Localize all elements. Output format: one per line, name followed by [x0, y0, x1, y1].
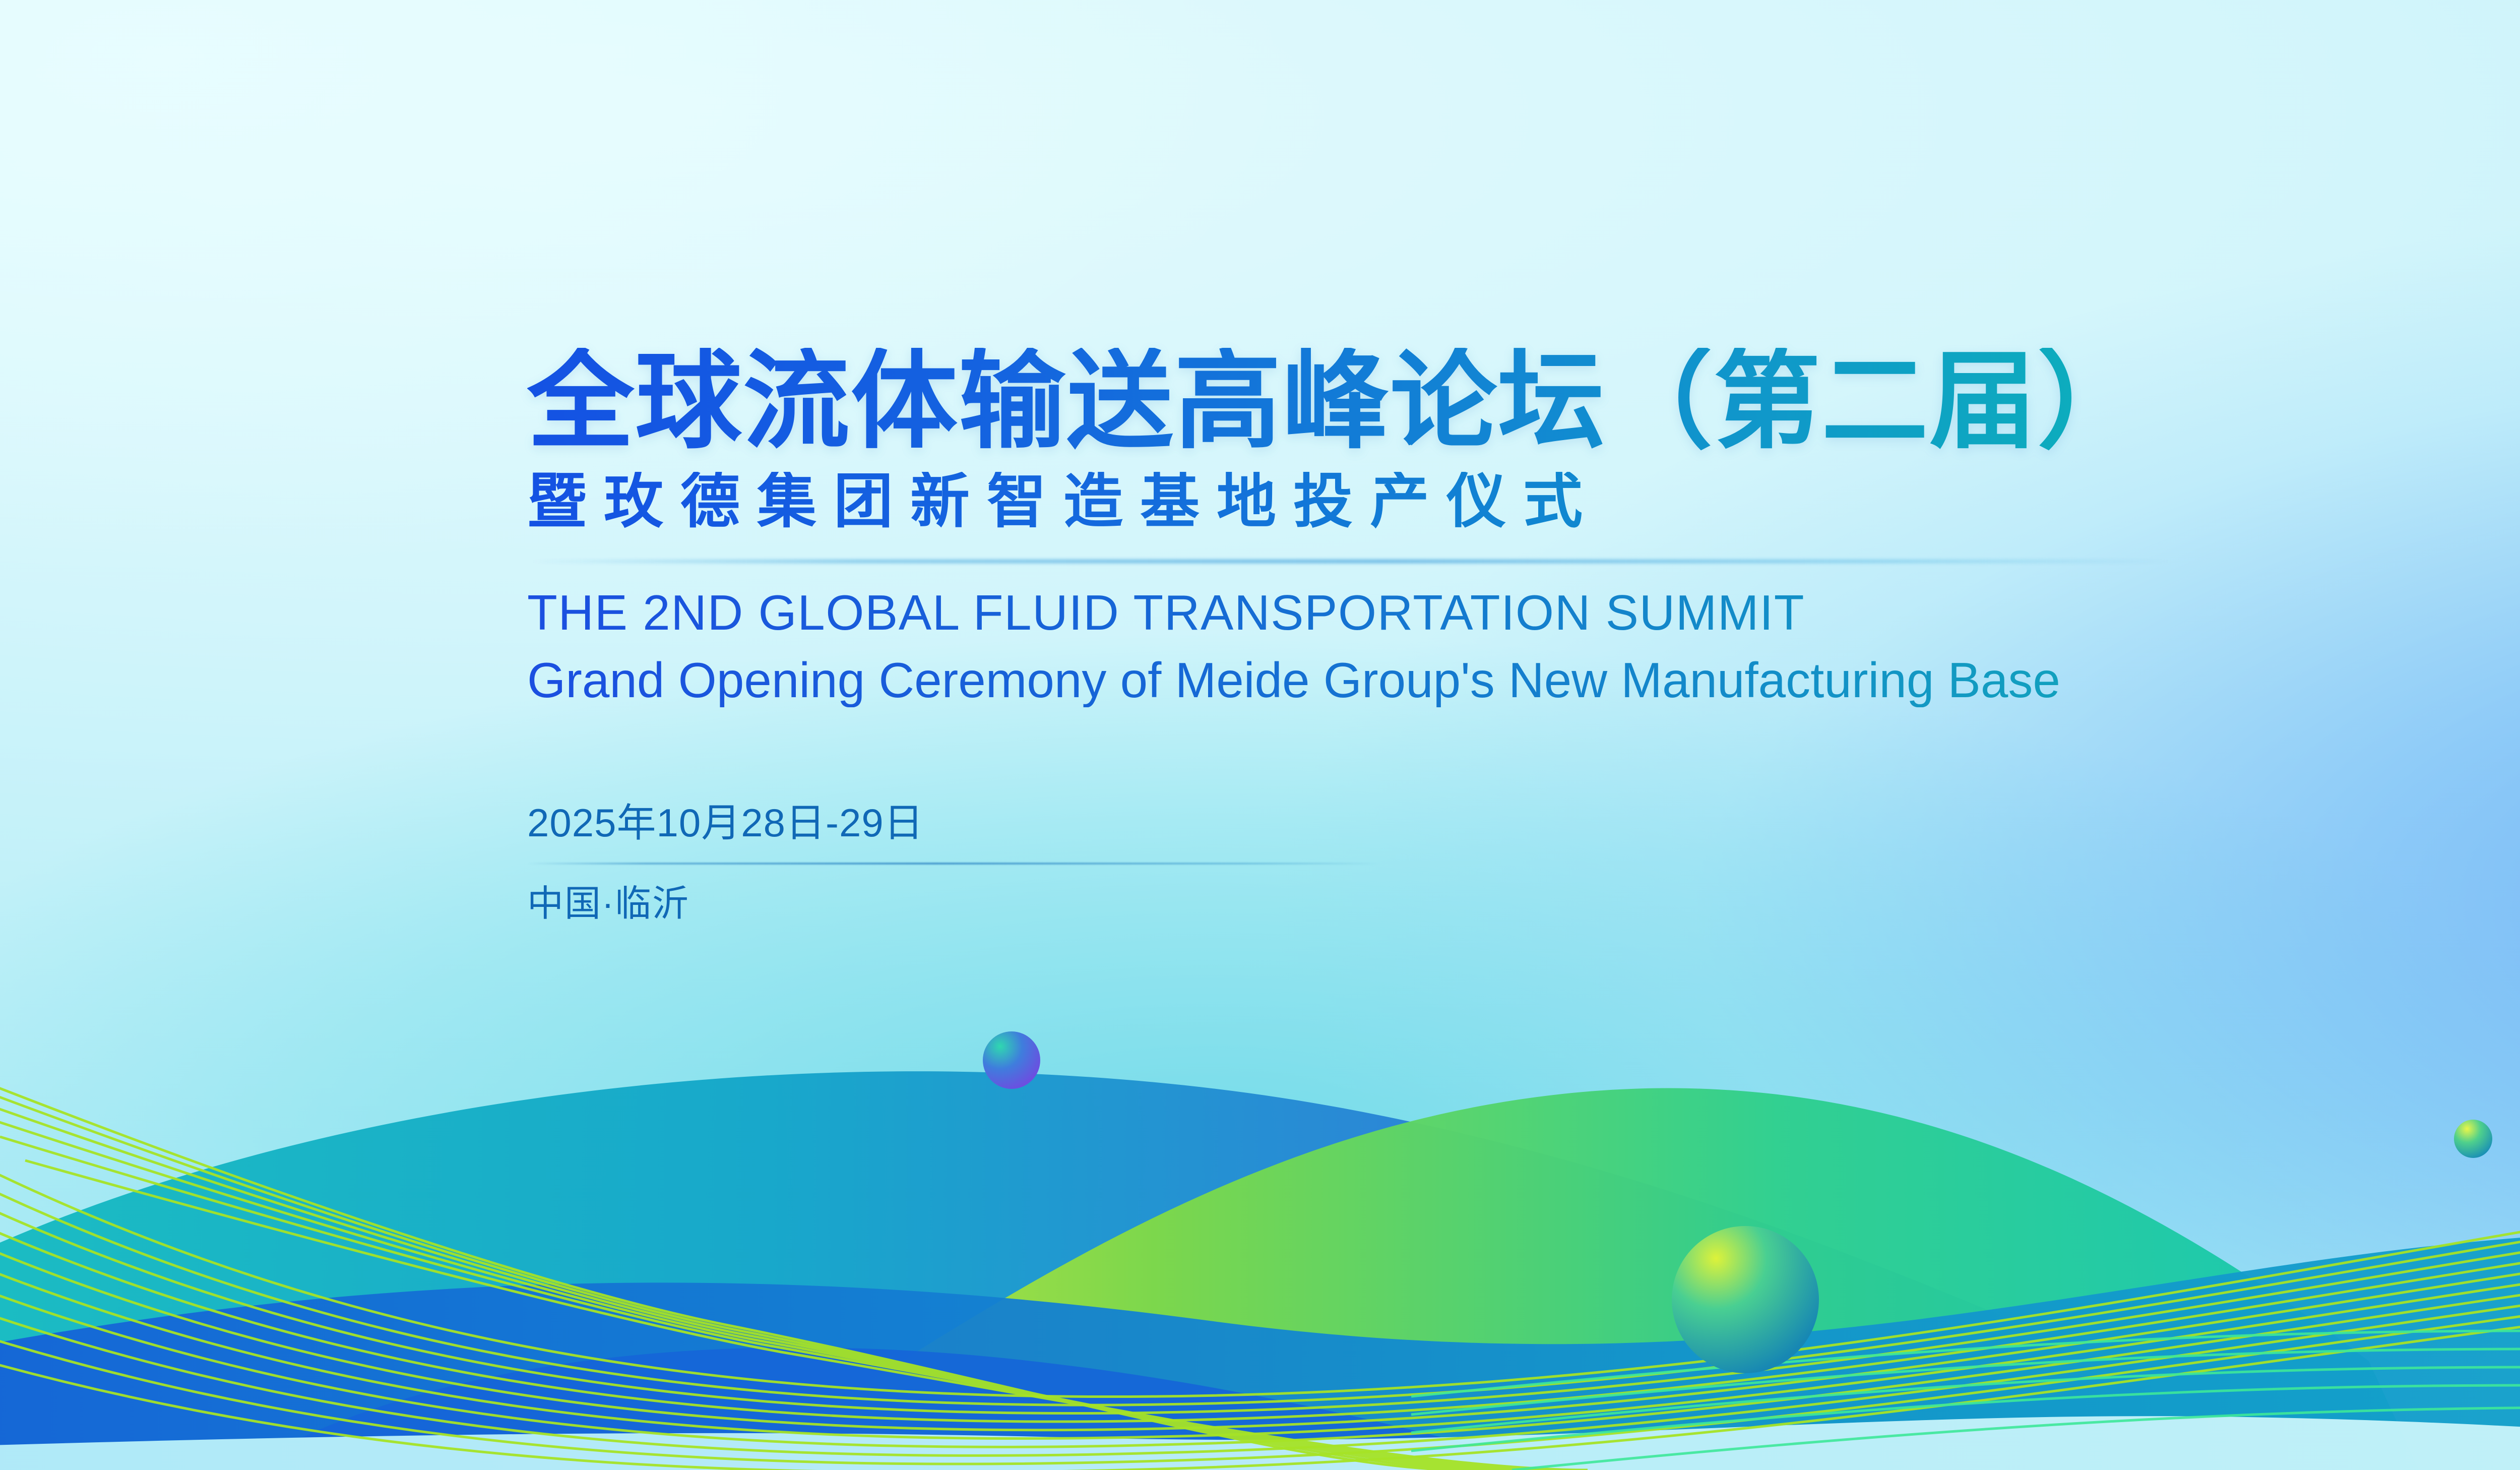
- banner-copy-block: 全球流体输送高峰论坛（第二届） 暨玫德集团新智造基地投产仪式 THE 2ND G…: [527, 348, 2520, 922]
- event-location: 中国·临沂: [527, 886, 1434, 922]
- event-date: 2025年10月28日-29日: [527, 803, 1434, 842]
- sphere-small-purple: [983, 1031, 1040, 1089]
- page-title: 全球流体输送高峰论坛（第二届）: [527, 348, 2520, 455]
- english-title-line-1: THE 2ND GLOBAL FLUID TRANSPORTATION SUMM…: [527, 586, 2520, 640]
- sphere-large-green: [1672, 1226, 1819, 1373]
- conference-banner: 全球流体输送高峰论坛（第二届） 暨玫德集团新智造基地投产仪式 THE 2ND G…: [0, 0, 2520, 1470]
- english-title-line-2: Grand Opening Ceremony of Meide Group's …: [527, 654, 2520, 707]
- page-subtitle: 暨玫德集团新智造基地投产仪式: [527, 472, 2520, 531]
- event-meta-block: 2025年10月28日-29日 中国·临沂: [527, 803, 1434, 922]
- sphere-small-green: [2454, 1120, 2492, 1158]
- meta-divider: [527, 863, 1379, 865]
- title-divider: [527, 560, 2175, 563]
